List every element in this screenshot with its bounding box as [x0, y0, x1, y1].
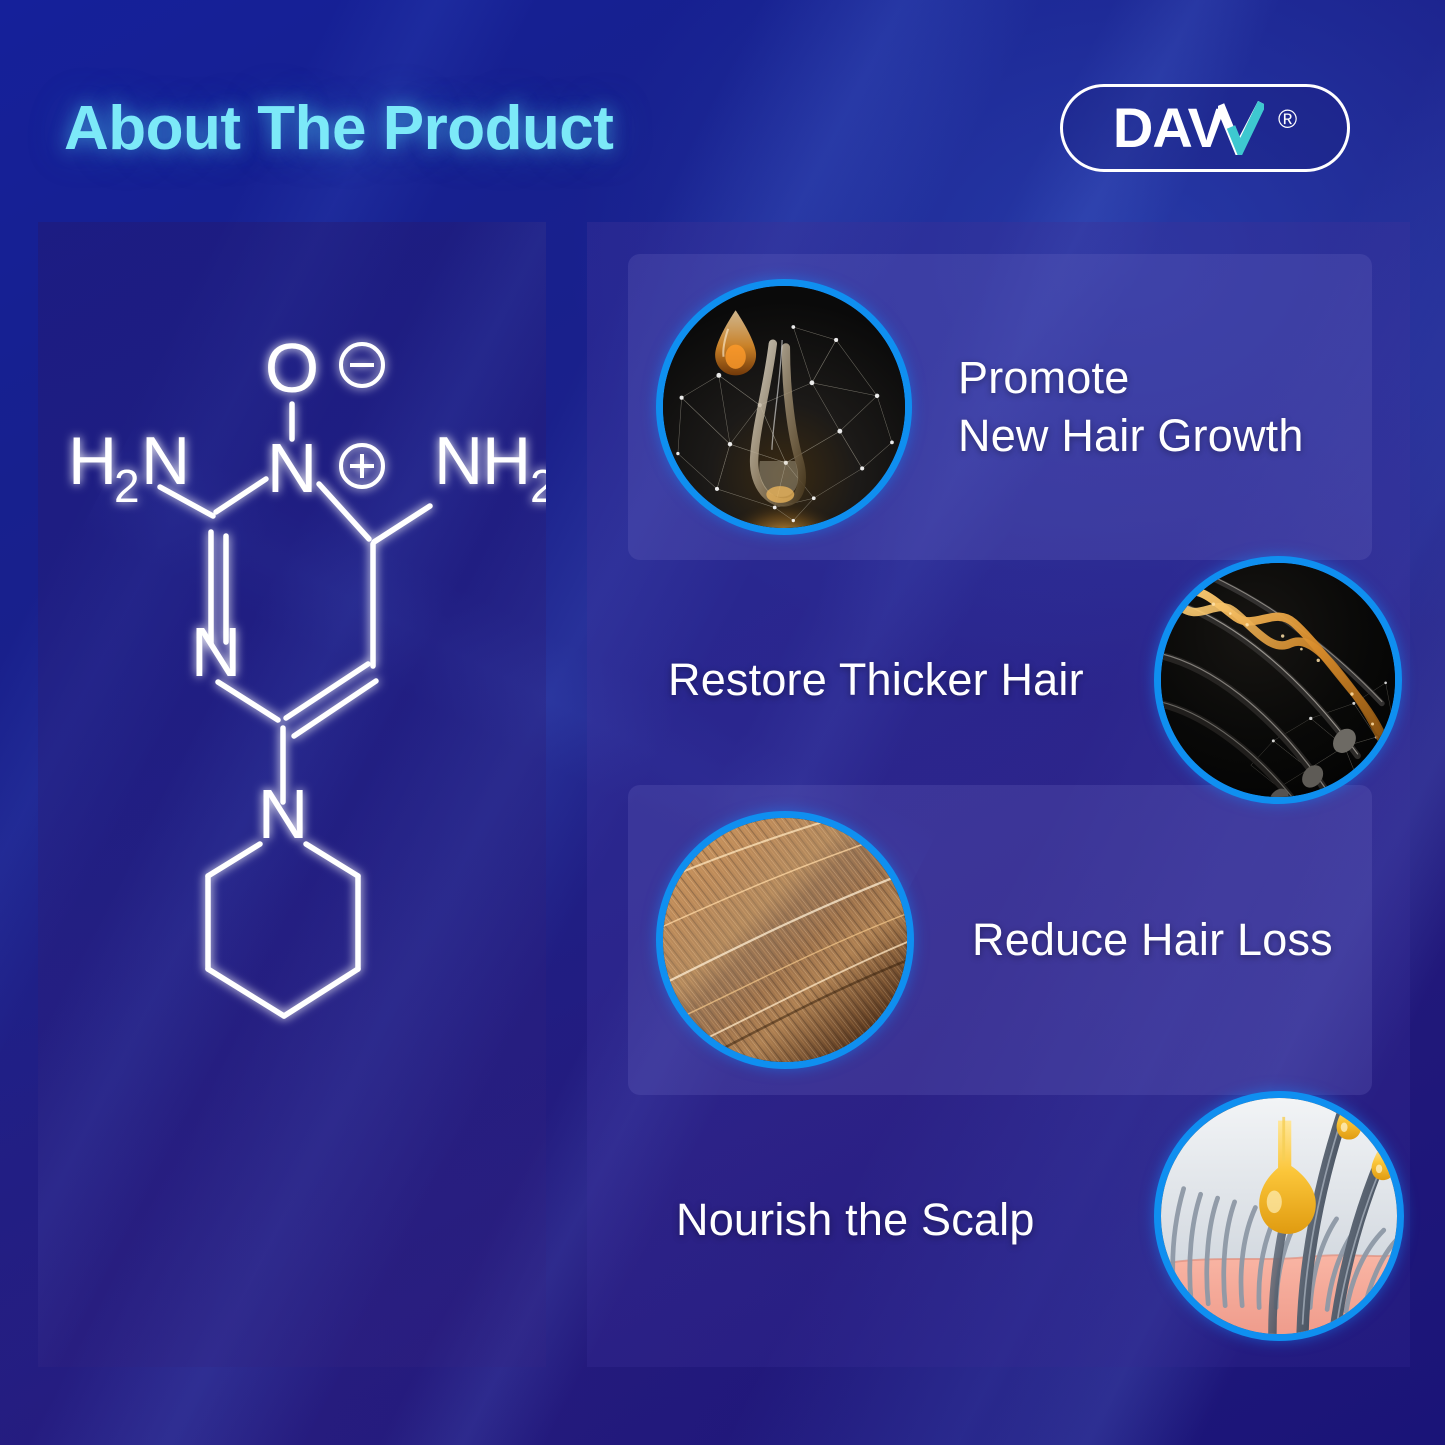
page-title: About The Product [64, 93, 613, 164]
svg-text:O: O [265, 329, 319, 407]
thick-hair-closeup-icon [656, 811, 914, 1069]
svg-text:N: N [267, 429, 318, 507]
feature-row-promote-new-hair-growth[interactable]: Promote New Hair Growth [628, 254, 1372, 560]
infographic-canvas: About The Product DAV ® [0, 0, 1445, 1445]
feature-label: Nourish the Scalp [676, 1191, 1035, 1249]
checkmark-icon [1218, 101, 1264, 155]
svg-text:N: N [258, 775, 309, 853]
feature-label: Reduce Hair Loss [972, 911, 1333, 969]
hair-follicle-network-icon [656, 279, 912, 535]
svg-text:2: 2 [114, 460, 140, 512]
feature-row-reduce-hair-loss[interactable]: Reduce Hair Loss [628, 785, 1372, 1095]
registered-mark-icon: ® [1278, 104, 1297, 135]
svg-text:H: H [68, 423, 117, 499]
feature-row-nourish-the-scalp[interactable]: Nourish the Scalp [628, 1085, 1388, 1355]
svg-text:N: N [141, 423, 190, 499]
svg-text:N: N [434, 423, 483, 499]
scalp-oil-drop-icon [1154, 1091, 1404, 1341]
brand-logo-text: DAV [1113, 100, 1224, 156]
minoxidil-structure-diagram: O N N N H 2 N N H 2 [38, 244, 546, 1144]
svg-text:N: N [191, 613, 242, 691]
feature-label: Promote New Hair Growth [958, 349, 1304, 464]
svg-text:H: H [482, 423, 531, 499]
feature-label: Restore Thicker Hair [668, 651, 1084, 709]
hair-strand-helix-icon [1154, 556, 1402, 804]
molecule-panel: O N N N H 2 N N H 2 5% MINOXIDIL [38, 222, 546, 1367]
brand-logo: DAV ® [1060, 84, 1350, 172]
svg-text:2: 2 [530, 460, 546, 512]
feature-row-restore-thicker-hair[interactable]: Restore Thicker Hair [628, 560, 1388, 800]
